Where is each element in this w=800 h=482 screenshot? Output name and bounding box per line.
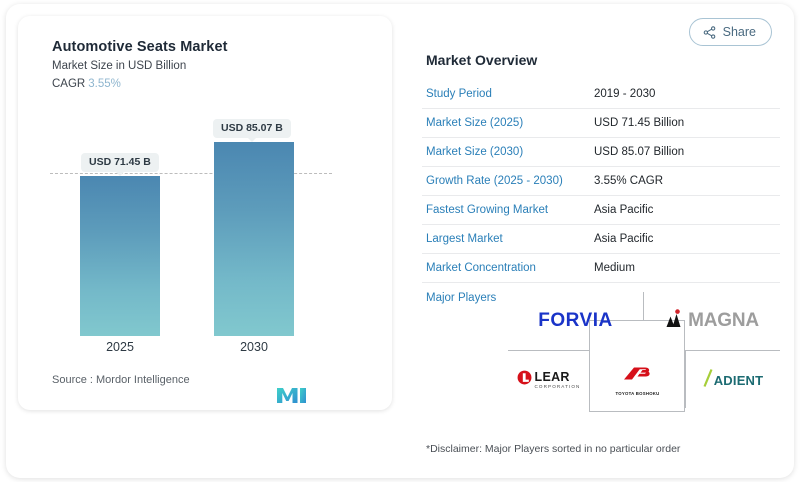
row-key: Market Size (2030) [422, 146, 594, 158]
toyota-boshoku-mark-icon [621, 365, 655, 389]
logo-forvia: FORVIA [508, 298, 643, 344]
chart-source: Source : Mordor Intelligence [52, 374, 190, 386]
row-value: USD 85.07 Billion [594, 146, 684, 158]
market-overview-title: Market Overview [426, 52, 537, 68]
row-key: Largest Market [422, 233, 594, 245]
toyota-boshoku-wordmark: TOYOTA BOSHOKU [615, 391, 659, 396]
table-row: Fastest Growing Market Asia Pacific [422, 196, 780, 225]
share-nodes-icon [703, 26, 716, 39]
lear-l-icon [517, 370, 532, 390]
row-value: 2019 - 2030 [594, 88, 655, 100]
share-button[interactable]: Share [689, 18, 772, 46]
table-row: Growth Rate (2025 - 2030) 3.55% CAGR [422, 167, 780, 196]
major-players-logo-grid: FORVIA MAGNA LE [508, 292, 780, 408]
row-key: Fastest Growing Market [422, 204, 594, 216]
bar-value-label-2030: USD 85.07 B [213, 119, 291, 138]
adient-wordmark: ADIENT [714, 373, 764, 388]
market-overview-table: Study Period 2019 - 2030 Market Size (20… [422, 80, 780, 312]
bar-2030 [214, 142, 294, 336]
bar-chart-plot: USD 71.45 B USD 85.07 B 2025 2030 [0, 0, 374, 394]
magna-wordmark: MAGNA [688, 310, 759, 332]
row-key: Growth Rate (2025 - 2030) [422, 175, 594, 187]
row-key: Market Size (2025) [422, 117, 594, 129]
row-value: 3.55% CAGR [594, 175, 663, 187]
lear-wordmark: LEAR [535, 371, 570, 384]
share-button-label: Share [723, 25, 756, 39]
bar-2025 [80, 176, 160, 336]
lear-sub-wordmark: CORPORATION [535, 384, 581, 389]
forvia-wordmark: FORVIA [538, 310, 612, 332]
market-report-card: Automotive Seats Market Market Size in U… [0, 0, 800, 482]
magna-mountain-icon [665, 309, 685, 333]
table-row: Study Period 2019 - 2030 [422, 80, 780, 109]
logo-adient: ADIENT [686, 354, 780, 406]
table-row: Market Concentration Medium [422, 254, 780, 283]
row-value: Medium [594, 262, 635, 274]
table-row: Market Size (2025) USD 71.45 Billion [422, 109, 780, 138]
disclaimer-text: *Disclaimer: Major Players sorted in no … [426, 443, 680, 455]
mordor-intelligence-logo [276, 386, 312, 404]
logo-magna: MAGNA [644, 298, 780, 344]
adient-slash-icon [703, 368, 713, 393]
row-key: Market Concentration [422, 262, 594, 274]
logo-lear: LEAR CORPORATION [508, 354, 589, 406]
table-row: Largest Market Asia Pacific [422, 225, 780, 254]
bar-value-label-2025: USD 71.45 B [81, 153, 159, 172]
row-key: Study Period [422, 88, 594, 100]
logo-toyota-boshoku: TOYOTA BOSHOKU [590, 354, 685, 406]
row-value: USD 71.45 Billion [594, 117, 684, 129]
table-row: Market Size (2030) USD 85.07 Billion [422, 138, 780, 167]
row-value: Asia Pacific [594, 204, 653, 216]
x-axis-label-2025: 2025 [80, 340, 160, 354]
row-value: Asia Pacific [594, 233, 653, 245]
x-axis-label-2030: 2030 [214, 340, 294, 354]
